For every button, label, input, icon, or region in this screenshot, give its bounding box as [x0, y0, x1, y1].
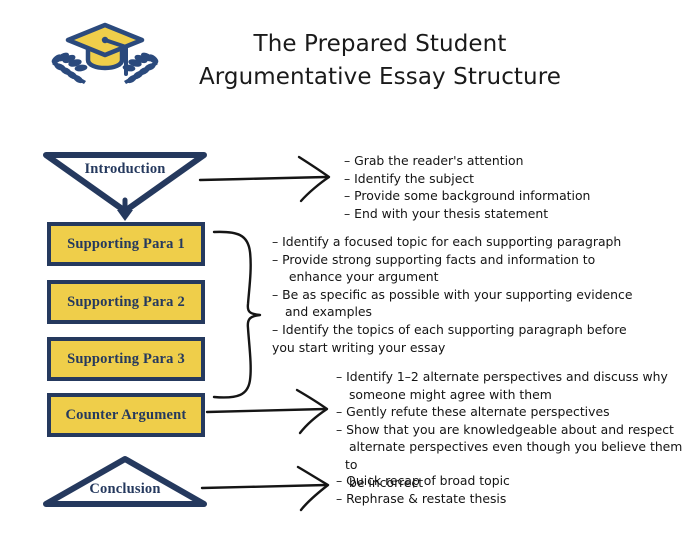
page-title: The Prepared Student Argumentative Essay…: [170, 28, 590, 94]
essay-structure-infographic: The Prepared Student Argumentative Essay…: [0, 0, 700, 533]
graduation-cap-laurel-logo: [44, 12, 166, 100]
list-item: – Rephrase & restate thesis: [336, 490, 666, 508]
flow-node-supporting-para-2-label: Supporting Para 2: [67, 294, 185, 311]
flow-node-supporting-para-2[interactable]: Supporting Para 2: [47, 280, 205, 324]
list-item: – Provide strong supporting facts and in…: [272, 251, 672, 286]
details-supporting-paragraphs: – Identify a focused topic for each supp…: [272, 233, 672, 356]
flow-node-supporting-para-3[interactable]: Supporting Para 3: [47, 337, 205, 381]
flow-node-counter-argument-label: Counter Argument: [66, 407, 187, 424]
title-line-2: Argumentative Essay Structure: [170, 61, 590, 94]
flow-node-supporting-para-1[interactable]: Supporting Para 1: [47, 222, 205, 266]
connector-supporting-brace: [208, 228, 270, 400]
connector-conclusion-arrow: [200, 466, 336, 512]
details-introduction: – Grab the reader's attention – Identify…: [344, 152, 684, 222]
list-item: – Identify the topics of each supporting…: [272, 321, 672, 339]
laurel-left-icon: [50, 51, 88, 85]
flow-node-supporting-para-3-label: Supporting Para 3: [67, 351, 185, 368]
flow-node-supporting-para-1-label: Supporting Para 1: [67, 236, 185, 253]
list-item: – Identify the subject: [344, 170, 684, 188]
list-item: – Identify a focused topic for each supp…: [272, 233, 672, 251]
flow-node-introduction[interactable]: Introduction: [42, 150, 208, 216]
title-line-1: The Prepared Student: [170, 28, 590, 61]
connector-counter-argument-arrow: [205, 388, 335, 436]
list-item: – Grab the reader's attention: [344, 152, 684, 170]
flow-node-conclusion[interactable]: Conclusion: [42, 455, 208, 509]
details-conclusion: – Quick recap of broad topic – Rephrase …: [336, 472, 666, 507]
list-item: – Gently refute these alternate perspect…: [336, 403, 686, 421]
list-item: – Quick recap of broad topic: [336, 472, 666, 490]
list-item: – Identify 1–2 alternate perspectives an…: [336, 368, 686, 403]
list-item-continuation: you start writing your essay: [272, 339, 672, 357]
list-item: – Provide some background information: [344, 187, 684, 205]
flow-node-counter-argument[interactable]: Counter Argument: [47, 393, 205, 437]
list-item: – End with your thesis statement: [344, 205, 684, 223]
connector-intro-arrow: [198, 152, 338, 204]
list-item: – Be as specific as possible with your s…: [272, 286, 672, 321]
